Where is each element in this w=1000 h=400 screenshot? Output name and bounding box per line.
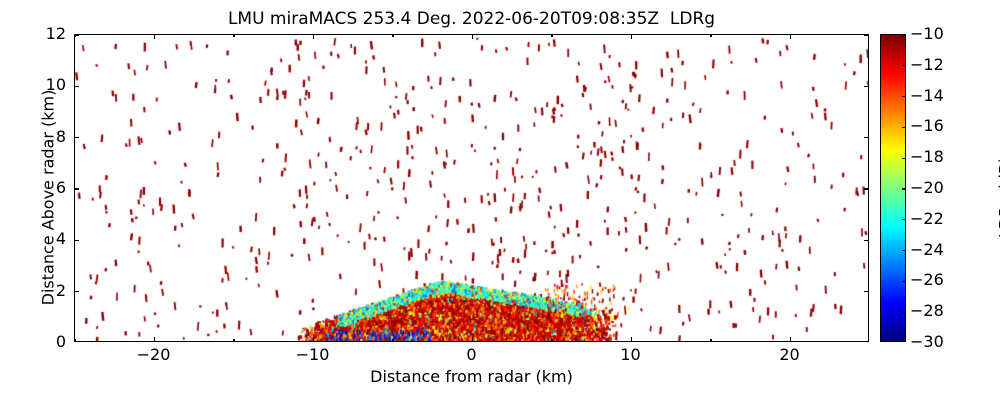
colorbar-tick	[902, 34, 906, 35]
x-axis-minor-tick	[392, 34, 393, 37]
y-axis-tick	[74, 86, 79, 87]
x-axis-tick	[154, 337, 155, 342]
colorbar-tick	[902, 312, 906, 313]
colorbar-tick-label: −28	[910, 302, 944, 320]
y-axis-tick-label: 12	[20, 25, 66, 43]
y-axis-tick	[74, 240, 79, 241]
x-axis-minor-tick	[74, 34, 75, 37]
colorbar-tick-label: −16	[910, 117, 944, 135]
x-axis-tick-label: −20	[137, 346, 171, 364]
y-axis-tick	[74, 137, 79, 138]
y-axis-tick	[864, 240, 869, 241]
colorbar-tick	[902, 281, 906, 282]
colorbar-tick-label: −12	[910, 56, 944, 74]
colorbar-tick-label: −10	[910, 25, 944, 43]
colorbar-tick-label: −22	[910, 210, 944, 228]
colorbar-tick-label: −18	[910, 148, 944, 166]
colorbar-tick-label: −30	[910, 333, 944, 351]
y-axis-tick	[74, 291, 79, 292]
y-axis-tick	[864, 291, 869, 292]
colorbar-tick	[902, 65, 906, 66]
colorbar-tick	[902, 219, 906, 220]
x-axis-minor-tick	[551, 339, 552, 342]
x-axis-minor-tick	[74, 339, 75, 342]
colorbar-tick	[902, 127, 906, 128]
x-axis-tick	[790, 337, 791, 342]
colorbar-tick-label: −24	[910, 241, 944, 259]
colorbar-tick	[902, 158, 906, 159]
y-axis-tick	[864, 86, 869, 87]
scatter-data-layer	[75, 35, 869, 342]
colorbar-axes	[880, 34, 906, 342]
x-axis-minor-tick	[710, 339, 711, 342]
x-axis-tick-label: 0	[466, 346, 476, 364]
x-axis-minor-tick	[233, 34, 234, 37]
y-axis-tick	[74, 188, 79, 189]
x-axis-tick	[631, 34, 632, 39]
x-axis-tick-label: −10	[296, 346, 330, 364]
x-axis-minor-tick	[392, 339, 393, 342]
x-axis-minor-tick	[233, 339, 234, 342]
y-axis-tick	[864, 188, 869, 189]
x-axis-tick	[313, 34, 314, 39]
colorbar-tick	[902, 188, 906, 189]
x-axis-tick	[313, 337, 314, 342]
x-axis-minor-tick	[710, 34, 711, 37]
colorbar-tick	[902, 96, 906, 97]
colorbar-tick	[902, 250, 906, 251]
x-axis-tick	[472, 337, 473, 342]
x-axis-tick-label: 10	[620, 346, 640, 364]
colorbar-tick-label: −14	[910, 87, 944, 105]
x-axis-tick	[790, 34, 791, 39]
x-axis-minor-tick	[551, 34, 552, 37]
y-axis-tick	[864, 137, 869, 138]
x-axis-tick-label: 20	[779, 346, 799, 364]
x-axis-tick	[154, 34, 155, 39]
main-plot-axes	[74, 34, 869, 342]
figure-canvas: LMU miraMACS 253.4 Deg. 2022-06-20T09:08…	[0, 0, 1000, 400]
colorbar-tick-label: −20	[910, 179, 944, 197]
colorbar-label: LDRg (dB)	[996, 44, 1000, 352]
plot-title: LMU miraMACS 253.4 Deg. 2022-06-20T09:08…	[74, 9, 869, 29]
y-axis-tick	[864, 34, 869, 35]
colorbar-tick-label: −26	[910, 271, 944, 289]
x-axis-tick	[631, 337, 632, 342]
x-axis-label: Distance from radar (km)	[74, 367, 869, 386]
y-axis-label: Distance Above radar (km)	[39, 44, 58, 352]
x-axis-tick	[472, 34, 473, 39]
